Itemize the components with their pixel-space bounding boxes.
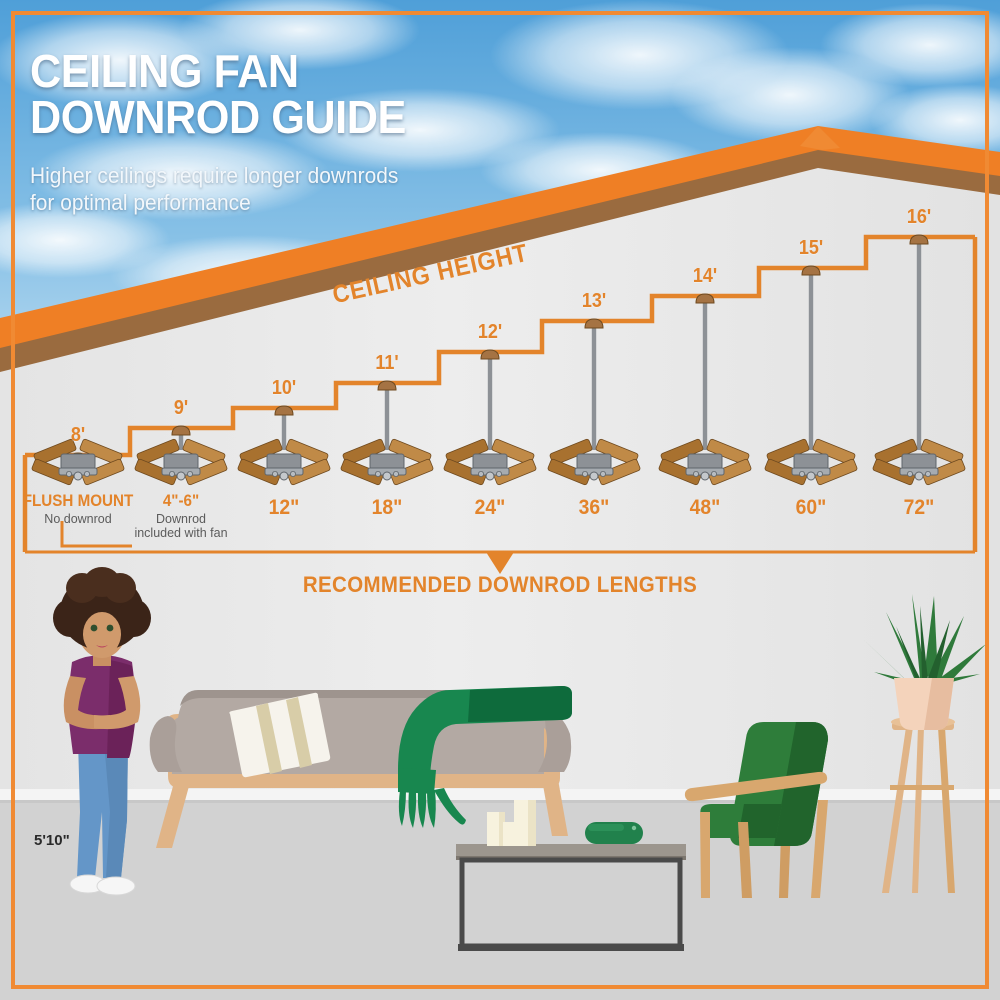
downrod-note2-1: included with fan: [134, 526, 227, 540]
downrod-length-0: FLUSH MOUNT: [23, 492, 133, 511]
downrod-length-4: 24": [475, 496, 506, 520]
title-line-1: CEILING FAN: [30, 48, 406, 94]
title-line-2: DOWNROD GUIDE: [30, 94, 406, 140]
downrod-length-1: 4"-6": [163, 492, 199, 511]
subtitle-line-2: for optimal performance: [30, 189, 398, 216]
ceiling-height-value-4: 12': [478, 321, 502, 344]
downrod-length-2: 12": [269, 496, 300, 520]
ceiling-height-value-3: 11': [375, 352, 398, 375]
ceiling-height-value-5: 13': [582, 290, 606, 313]
ceiling-height-value-2: 10': [272, 377, 296, 400]
ceiling-height-value-6: 14': [693, 265, 717, 288]
ceiling-height-value-8: 16': [907, 206, 931, 229]
downrod-note-0: No downrod: [44, 512, 111, 526]
downrod-length-5: 36": [579, 496, 610, 520]
subtitle-line-1: Higher ceilings require longer downrods: [30, 162, 398, 189]
person-height-label: 5'10": [34, 832, 70, 849]
ceiling-height-value-1: 9': [174, 397, 188, 420]
ceiling-height-value-0: 8': [71, 424, 85, 447]
downrod-length-6: 48": [690, 496, 721, 520]
downrod-length-7: 60": [796, 496, 827, 520]
downrod-note-1: Downrod: [156, 512, 206, 526]
downrod-length-8: 72": [904, 496, 935, 520]
downrod-length-3: 18": [372, 496, 403, 520]
page-title: CEILING FAN DOWNROD GUIDE: [30, 48, 406, 140]
ceiling-height-value-7: 15': [799, 237, 823, 260]
infographic-canvas: CEILING FAN DOWNROD GUIDE Higher ceiling…: [0, 0, 1000, 1000]
page-subtitle: Higher ceilings require longer downrods …: [30, 162, 398, 216]
recommended-downrod-label: RECOMMENDED DOWNROD LENGTHS: [303, 572, 697, 598]
